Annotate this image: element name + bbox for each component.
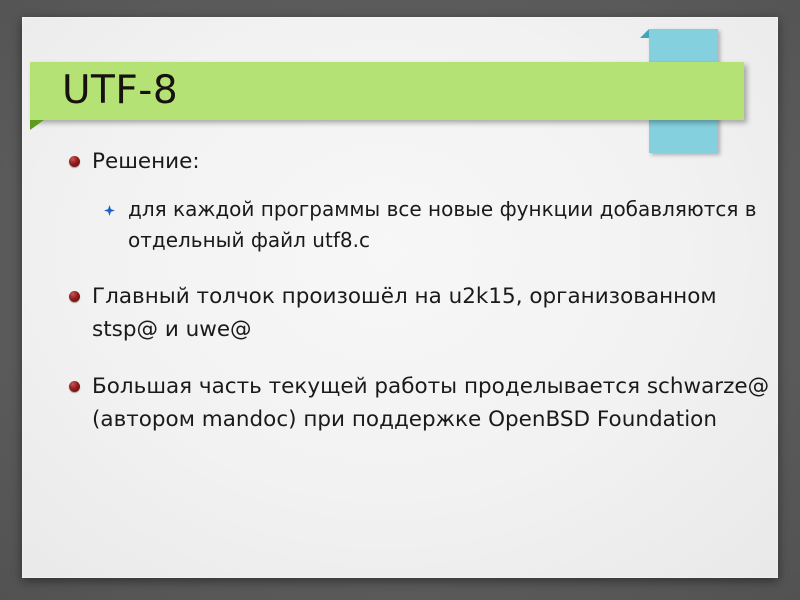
bullet-sphere-icon [69,291,80,302]
title-banner: UTF-8 [30,62,744,120]
slide-viewport: UTF-8 Решение: для каждой программы все … [0,0,800,600]
list-item-label: для каждой программы все новые функции д… [128,197,757,252]
title-banner-fold-icon [30,120,44,130]
list-item: для каждой программы все новые функции д… [44,194,784,256]
list-item-label: Решение: [92,149,200,174]
page-title: UTF-8 [62,71,178,111]
spacer [44,184,784,194]
bullet-sphere-icon [69,381,80,392]
spacer [44,262,784,280]
spacer [44,352,784,370]
slide-card: UTF-8 Решение: для каждой программы все … [22,17,778,578]
list-item-label: Главный толчок произошёл на u2k15, орган… [92,284,717,342]
decorative-blue-fold-icon [640,29,649,38]
list-item: Главный толчок произошёл на u2k15, орган… [44,280,784,346]
bullet-sphere-icon [69,156,80,167]
bullet-list: Решение: для каждой программы все новые … [44,145,784,442]
bullet-star-icon [104,205,115,216]
list-item-label: Большая часть текущей работы проделывает… [92,374,769,432]
list-item: Решение: [44,145,784,178]
list-item: Большая часть текущей работы проделывает… [44,370,784,436]
